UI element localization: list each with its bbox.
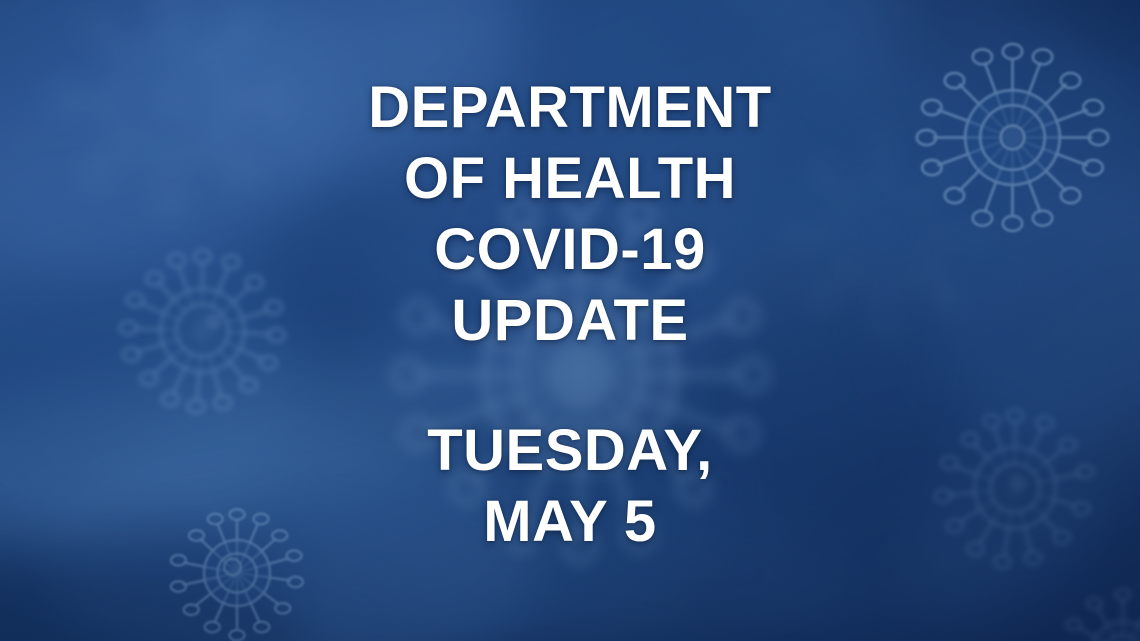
title-line-2: OF HEALTH bbox=[404, 143, 736, 214]
covid-update-title-card: DEPARTMENT OF HEALTH COVID-19 UPDATE TUE… bbox=[0, 0, 1140, 641]
date-line-1: TUESDAY, bbox=[427, 415, 713, 486]
date-block: TUESDAY, MAY 5 bbox=[427, 415, 713, 557]
title-line-1: DEPARTMENT bbox=[368, 72, 771, 143]
title-block: DEPARTMENT OF HEALTH COVID-19 UPDATE bbox=[368, 72, 771, 356]
title-line-3: COVID-19 bbox=[434, 214, 706, 285]
headline-text-overlay: DEPARTMENT OF HEALTH COVID-19 UPDATE TUE… bbox=[0, 0, 1140, 641]
title-line-4: UPDATE bbox=[451, 285, 688, 356]
date-line-2: MAY 5 bbox=[483, 486, 656, 557]
